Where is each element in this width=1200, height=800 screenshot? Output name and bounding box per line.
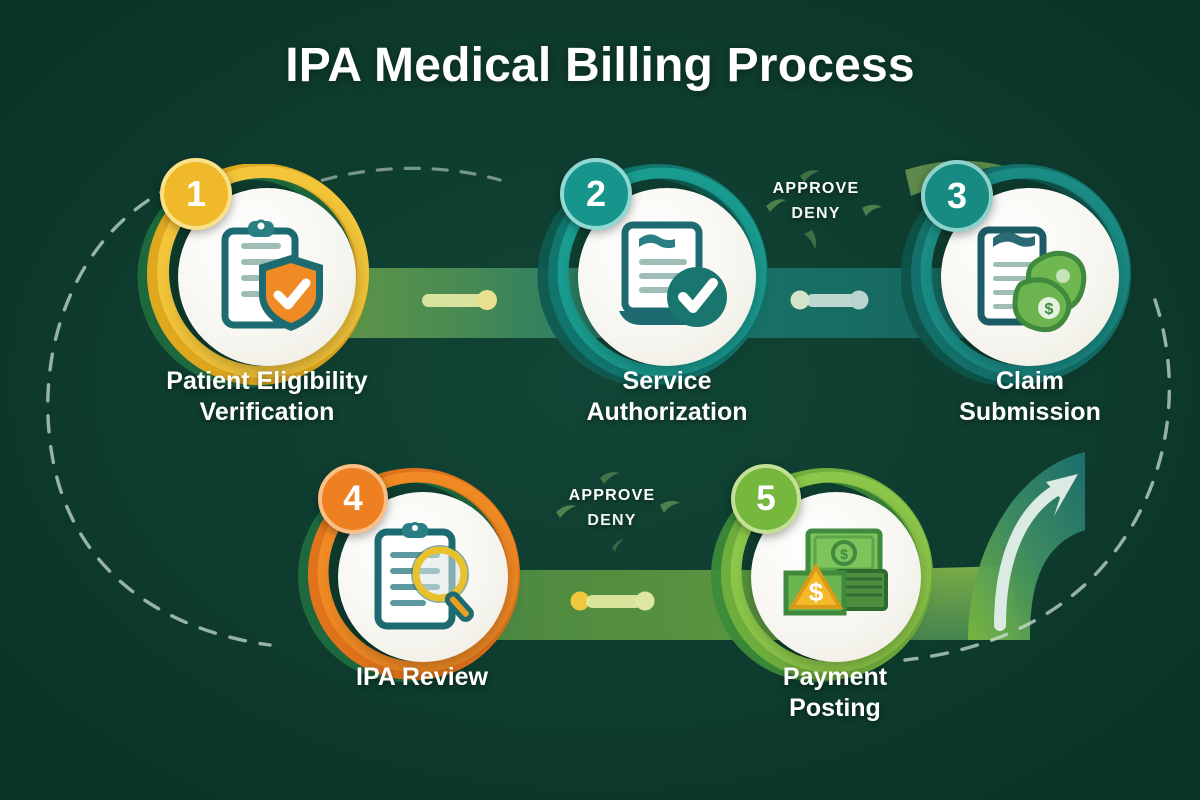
clipboard-shield-check-icon: [203, 213, 331, 341]
step-5-number: 5: [756, 479, 775, 519]
document-check-icon: [605, 215, 729, 339]
step-5-label: Payment Posting: [685, 662, 985, 724]
clipboard-magnifier-icon: [362, 516, 484, 638]
page-title: IPA Medical Billing Process: [0, 38, 1200, 93]
step-2-label: Service Authorization: [517, 366, 817, 428]
svg-text:$: $: [840, 546, 848, 562]
step-5-badge: 5: [731, 464, 801, 534]
svg-text:$: $: [809, 577, 824, 607]
step-2-number: 2: [586, 173, 606, 215]
step-3-label: Claim Submission: [880, 366, 1180, 428]
decision-label-1: APPROVE DENY: [716, 180, 916, 223]
step-4-label: IPA Review: [272, 662, 572, 693]
step-3-number: 3: [947, 175, 967, 217]
step-4-badge: 4: [318, 464, 388, 534]
step-1-number: 1: [186, 173, 206, 215]
deny-label-1: DENY: [716, 205, 916, 223]
approve-label-2: APPROVE: [512, 487, 712, 505]
decision-label-2: APPROVE DENY: [512, 487, 712, 530]
step-3-badge: 3: [921, 160, 993, 232]
deny-label-2: DENY: [512, 512, 712, 530]
clipboard-money-icon: $: [967, 214, 1093, 340]
cash-stack-icon: $ $: [774, 521, 898, 633]
approve-label-1: APPROVE: [716, 180, 916, 198]
step-4-number: 4: [343, 479, 362, 519]
svg-text:$: $: [1045, 301, 1054, 318]
step-1-label: Patient Eligibility Verification: [117, 366, 417, 428]
step-1-badge: 1: [160, 158, 232, 230]
step-2-badge: 2: [560, 158, 632, 230]
infographic-canvas: IPA Medical Billing Process: [0, 0, 1200, 800]
